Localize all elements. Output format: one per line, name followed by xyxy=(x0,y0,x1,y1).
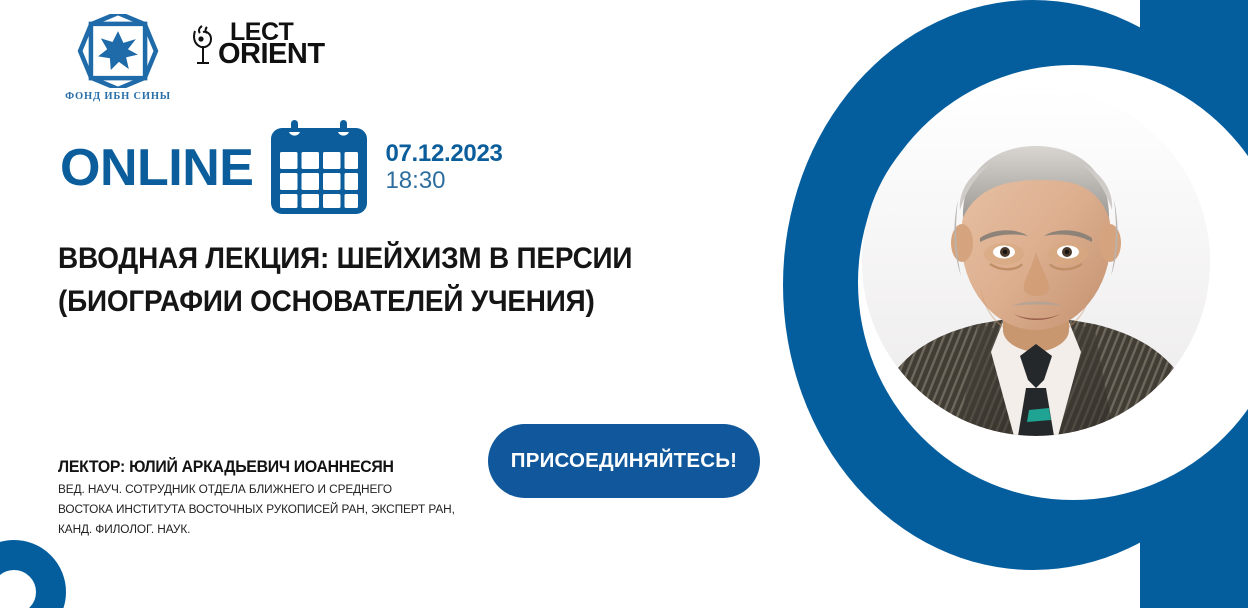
lect-orient-wordmark: LECT ORIENT xyxy=(218,22,325,66)
online-label: ONLINE xyxy=(60,142,253,194)
lecturer-desc-line-2: ВОСТОКА ИНСТИТУТА ВОСТОЧНЫХ РУКОПИСЕЙ РА… xyxy=(58,500,446,520)
title-line-2: (БИОГРАФИИ ОСНОВАТЕЛЕЙ УЧЕНИЯ) xyxy=(58,281,690,324)
event-datetime: 07.12.2023 18:30 xyxy=(385,141,502,195)
logo-row: ФОНД ИБН СИНЫ LECT ORIENT xyxy=(62,14,325,102)
event-time: 18:30 xyxy=(385,168,502,195)
orient-word: ORIENT xyxy=(218,43,325,67)
event-meta-row: ONLINE 07.12.2023 xyxy=(60,118,503,218)
lecturer-name: ЛЕКТОР: ЮЛИЙ АРКАДЬЕВИЧ ИОАННЕСЯН xyxy=(58,458,442,477)
eight-point-star-rosette-icon xyxy=(72,14,164,88)
lecturer-block: ЛЕКТОР: ЮЛИЙ АРКАДЬЕВИЧ ИОАННЕСЯН ВЕД. Н… xyxy=(58,458,458,539)
lecturer-description: ВЕД. НАУЧ. СОТРУДНИК ОТДЕЛА БЛИЖНЕГО И С… xyxy=(58,480,446,539)
ibn-sina-foundation-logo[interactable]: ФОНД ИБН СИНЫ xyxy=(62,14,174,102)
page-title: ВВОДНАЯ ЛЕКЦИЯ: ШЕЙХИЗМ В ПЕРСИИ (БИОГРА… xyxy=(58,238,690,323)
lecturer-desc-line-1: ВЕД. НАУЧ. СОТРУДНИК ОТДЕЛА БЛИЖНЕГО И С… xyxy=(58,480,446,500)
blue-donut-decoration xyxy=(0,540,66,608)
lecturer-portrait xyxy=(862,88,1210,436)
calendar-icon xyxy=(267,118,371,218)
event-date: 07.12.2023 xyxy=(385,141,502,168)
foundation-caption: ФОНД ИБН СИНЫ xyxy=(62,91,174,102)
title-line-1: ВВОДНАЯ ЛЕКЦИЯ: ШЕЙХИЗМ В ПЕРСИИ xyxy=(58,238,690,281)
poster-canvas: ФОНД ИБН СИНЫ LECT ORIENT ONLINE xyxy=(0,0,1248,608)
oil-lamp-glyph-icon xyxy=(190,22,216,66)
lect-orient-logo[interactable]: LECT ORIENT xyxy=(190,22,325,66)
lecturer-desc-line-3: КАНД. ФИЛОЛОГ. НАУК. xyxy=(58,520,446,540)
join-button[interactable]: ПРИСОЕДИНЯЙТЕСЬ! xyxy=(488,424,760,498)
